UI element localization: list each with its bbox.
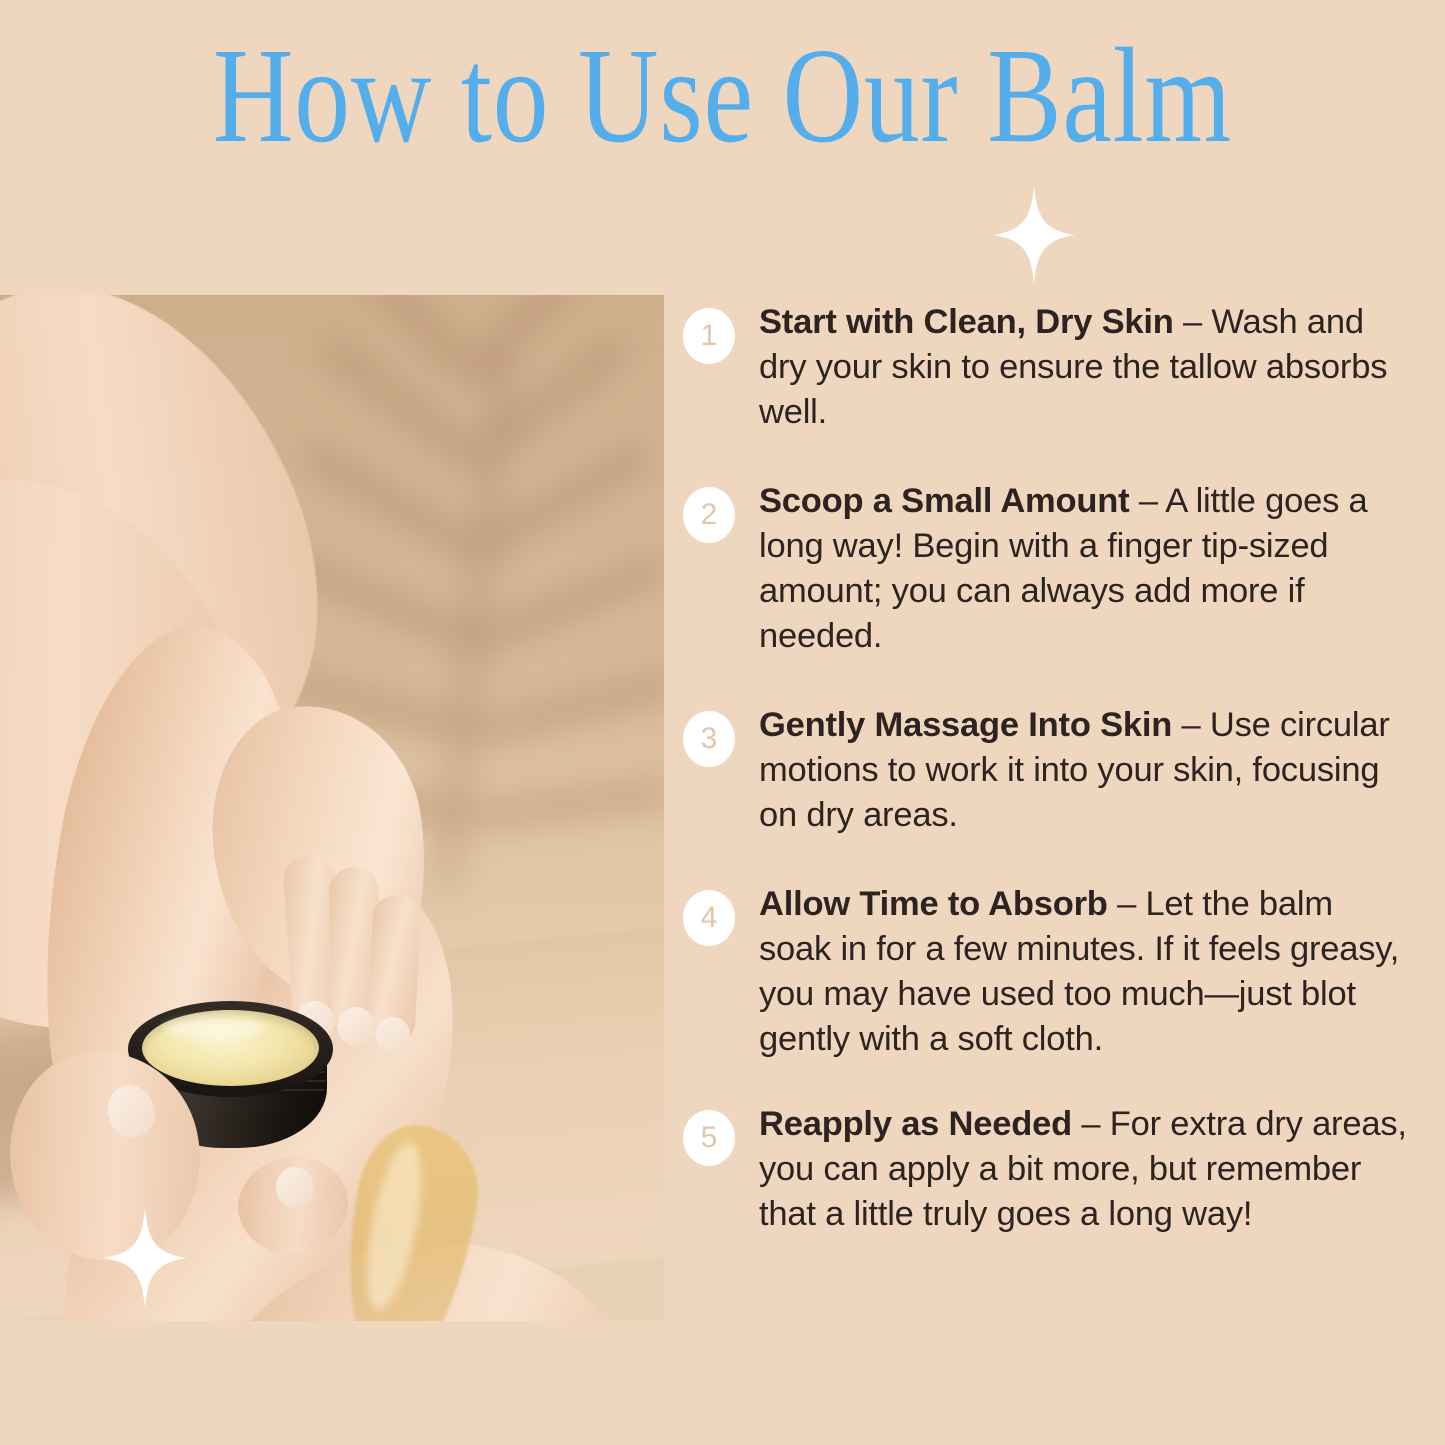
step-title: Scoop a Small Amount [759, 482, 1129, 520]
list-item: 4 Allow Time to Absorb – Let the balm so… [683, 882, 1413, 1062]
product-usage-photo [0, 295, 664, 1321]
step-text: Scoop a Small Amount – A little goes a l… [759, 479, 1413, 659]
list-item: 2 Scoop a Small Amount – A little goes a… [683, 479, 1413, 659]
step-title: Start with Clean, Dry Skin [759, 303, 1174, 341]
page-title: How to Use Our Balm [130, 28, 1315, 164]
step-title: Gently Massage Into Skin [759, 706, 1172, 744]
step-number-badge: 3 [683, 711, 735, 767]
step-text: Start with Clean, Dry Skin – Wash and dr… [759, 300, 1413, 435]
step-number-badge: 5 [683, 1110, 735, 1166]
list-item: 1 Start with Clean, Dry Skin – Wash and … [683, 300, 1413, 435]
steps-list: 1 Start with Clean, Dry Skin – Wash and … [683, 300, 1413, 1237]
step-title: Reapply as Needed [759, 1105, 1072, 1143]
step-number-badge: 2 [683, 487, 735, 543]
jar-balm-highlight [164, 1017, 264, 1039]
step-text: Gently Massage Into Skin – Use circular … [759, 703, 1413, 838]
title-bar: How to Use Our Balm [0, 0, 1445, 295]
step-number-badge: 4 [683, 890, 735, 946]
list-item: 3 Gently Massage Into Skin – Use circula… [683, 703, 1413, 838]
step-number-badge: 1 [683, 308, 735, 364]
infographic-poster: How to Use Our Balm [0, 0, 1445, 1445]
list-item: 5 Reapply as Needed – For extra dry area… [683, 1102, 1413, 1237]
step-text: Allow Time to Absorb – Let the balm soak… [759, 882, 1413, 1062]
step-title: Allow Time to Absorb [759, 885, 1108, 923]
step-text: Reapply as Needed – For extra dry areas,… [759, 1102, 1413, 1237]
photo-fingernail [338, 1007, 374, 1045]
